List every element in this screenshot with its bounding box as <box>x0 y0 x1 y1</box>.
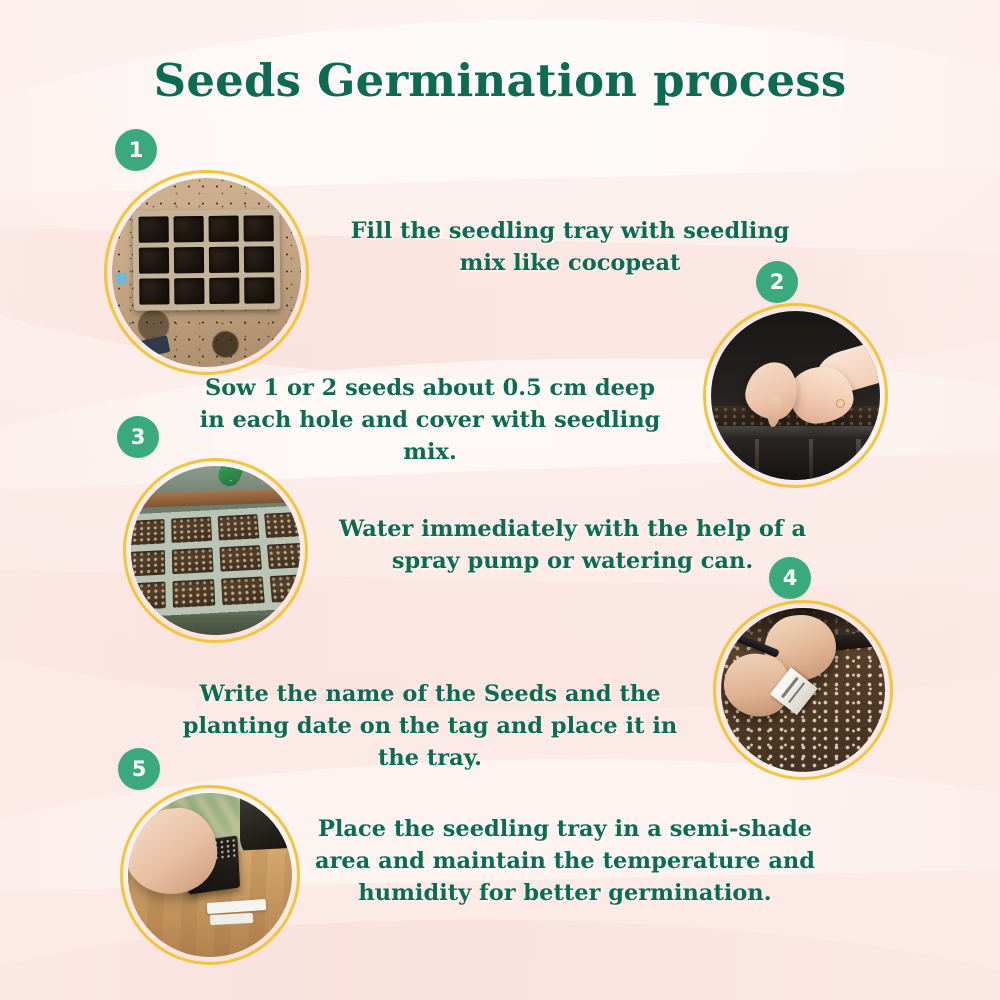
blue-label-scrap <box>115 272 128 285</box>
tray-cell <box>131 549 166 576</box>
step-number-badge-5: 5 <box>118 748 160 790</box>
step-text-5: Place the seedling tray in a semi-shade … <box>315 813 815 910</box>
placing-seedling-tray-on-bench-photo <box>128 793 292 957</box>
tray-cell <box>244 278 274 304</box>
tray-cell <box>244 215 274 241</box>
tray-cell <box>209 247 239 273</box>
step-number-label-3: 3 <box>131 425 146 449</box>
tray-cell <box>222 576 266 604</box>
step-photo-2 <box>703 303 888 488</box>
step-photo-5 <box>120 785 300 965</box>
photo-3-scene <box>131 466 300 635</box>
hand-writing-on-plant-tag-photo <box>721 608 885 772</box>
tray-cell <box>244 246 274 272</box>
photo-4-scene <box>721 608 885 772</box>
photo-1-scene <box>112 178 301 367</box>
bench-base <box>131 615 300 635</box>
tray-cell <box>270 574 300 602</box>
step-text-3: Water immediately with the help of a spr… <box>310 513 835 577</box>
tray-cell <box>139 248 169 274</box>
tray-cell <box>209 216 239 242</box>
page-title: Seeds Germination process <box>0 54 1000 107</box>
tray-cell <box>218 514 260 540</box>
spray-watering-seedling-tray-photo <box>131 466 300 635</box>
tray-cell <box>265 511 300 537</box>
tray-cell <box>172 547 214 574</box>
hands-sowing-seeds-into-tray-photo <box>711 311 880 480</box>
step-photo-3 <box>123 458 308 643</box>
step-photo-4 <box>713 600 893 780</box>
tray-cell <box>174 278 204 304</box>
step-text-2: Sow 1 or 2 seeds about 0.5 cm deep in ea… <box>195 372 665 469</box>
step-number-label-1: 1 <box>129 138 144 162</box>
tray-cell <box>173 216 203 242</box>
tray-cell <box>209 278 239 304</box>
tray-cell <box>220 544 263 571</box>
tray-cell <box>173 579 216 607</box>
seedling-tray-filled-with-cocopeat-photo <box>112 178 301 367</box>
tray-cell <box>139 279 169 305</box>
step-number-label-2: 2 <box>770 270 785 294</box>
photo-5-scene <box>128 793 292 957</box>
step-number-label-5: 5 <box>132 757 147 781</box>
black-plant-pot <box>240 796 289 855</box>
step-number-badge-2: 2 <box>756 261 798 303</box>
step-photo-1 <box>104 170 309 375</box>
step-text-4: Write the name of the Seeds and the plan… <box>165 678 695 775</box>
step-number-badge-3: 3 <box>117 416 159 458</box>
photo-2-scene <box>711 311 880 480</box>
tray-cell <box>131 519 165 545</box>
tray-rib <box>809 439 813 480</box>
step-number-badge-1: 1 <box>115 129 157 171</box>
seedling-tray-grid <box>131 505 300 618</box>
tray-cell <box>174 247 204 273</box>
step-number-label-4: 4 <box>783 566 798 590</box>
tray-rib <box>856 439 860 480</box>
finger-ring <box>836 399 845 408</box>
step-text-1: Fill the seedling tray with seedling mix… <box>330 215 810 279</box>
twelve-cell-tray <box>132 209 280 311</box>
tray-body <box>711 439 880 480</box>
infographic-poster: Seeds Germination process 1 <box>0 0 1000 1000</box>
tray-cell <box>138 217 168 243</box>
tray-rib <box>755 439 759 480</box>
tray-cell <box>172 516 213 542</box>
step-number-badge-4: 4 <box>769 557 811 599</box>
tray-cell <box>131 581 166 609</box>
tray-cell <box>268 542 300 569</box>
